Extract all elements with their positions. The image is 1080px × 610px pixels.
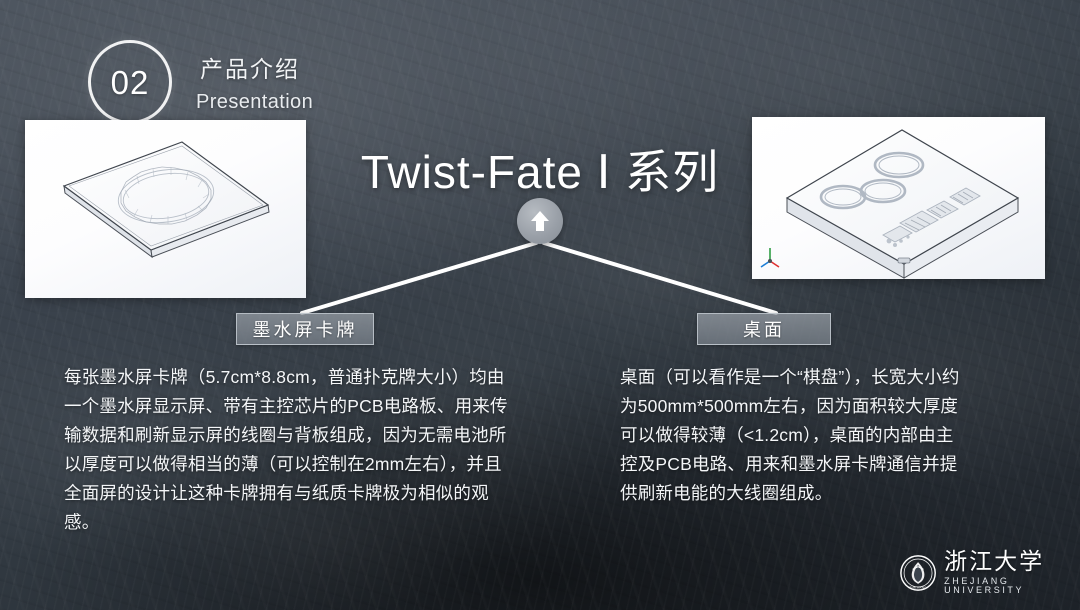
body-paragraph-table: 桌面（可以看作是一个“棋盘”），长宽大小约为500mm*500mm左右，因为面积… [620,363,965,508]
university-logo: ZHEJIANG 浙江大学 ZHEJIANG UNIVERSITY [900,550,1080,595]
category-label-card-text: 墨水屏卡牌 [253,316,358,342]
up-arrow-icon [530,210,550,232]
category-label-card: 墨水屏卡牌 [236,313,374,345]
section-title-chinese: 产品介绍 [200,50,300,84]
presentation-slide: 02 产品介绍 Presentation Twist-Fate Ⅰ 系列 [0,0,1080,610]
category-label-table: 桌面 [697,313,831,345]
product-image-card [25,120,306,298]
section-title-english: Presentation [196,91,313,114]
section-number-text: 02 [111,66,150,99]
axis-triad-icon [761,248,779,267]
university-name-english: ZHEJIANG UNIVERSITY [944,577,1080,595]
zhejiang-university-emblem-icon: ZHEJIANG [900,553,936,593]
svg-text:ZHEJIANG: ZHEJIANG [909,585,927,589]
product-image-board [752,117,1045,279]
category-label-table-text: 桌面 [743,316,785,342]
body-paragraph-card: 每张墨水屏卡牌（5.7cm*8.8cm，普通扑克牌大小）均由一个墨水屏显示屏、带… [64,363,516,537]
section-number-badge: 02 [88,40,172,124]
up-arrow-badge [517,198,563,244]
university-name-chinese: 浙江大学 [944,550,1080,573]
